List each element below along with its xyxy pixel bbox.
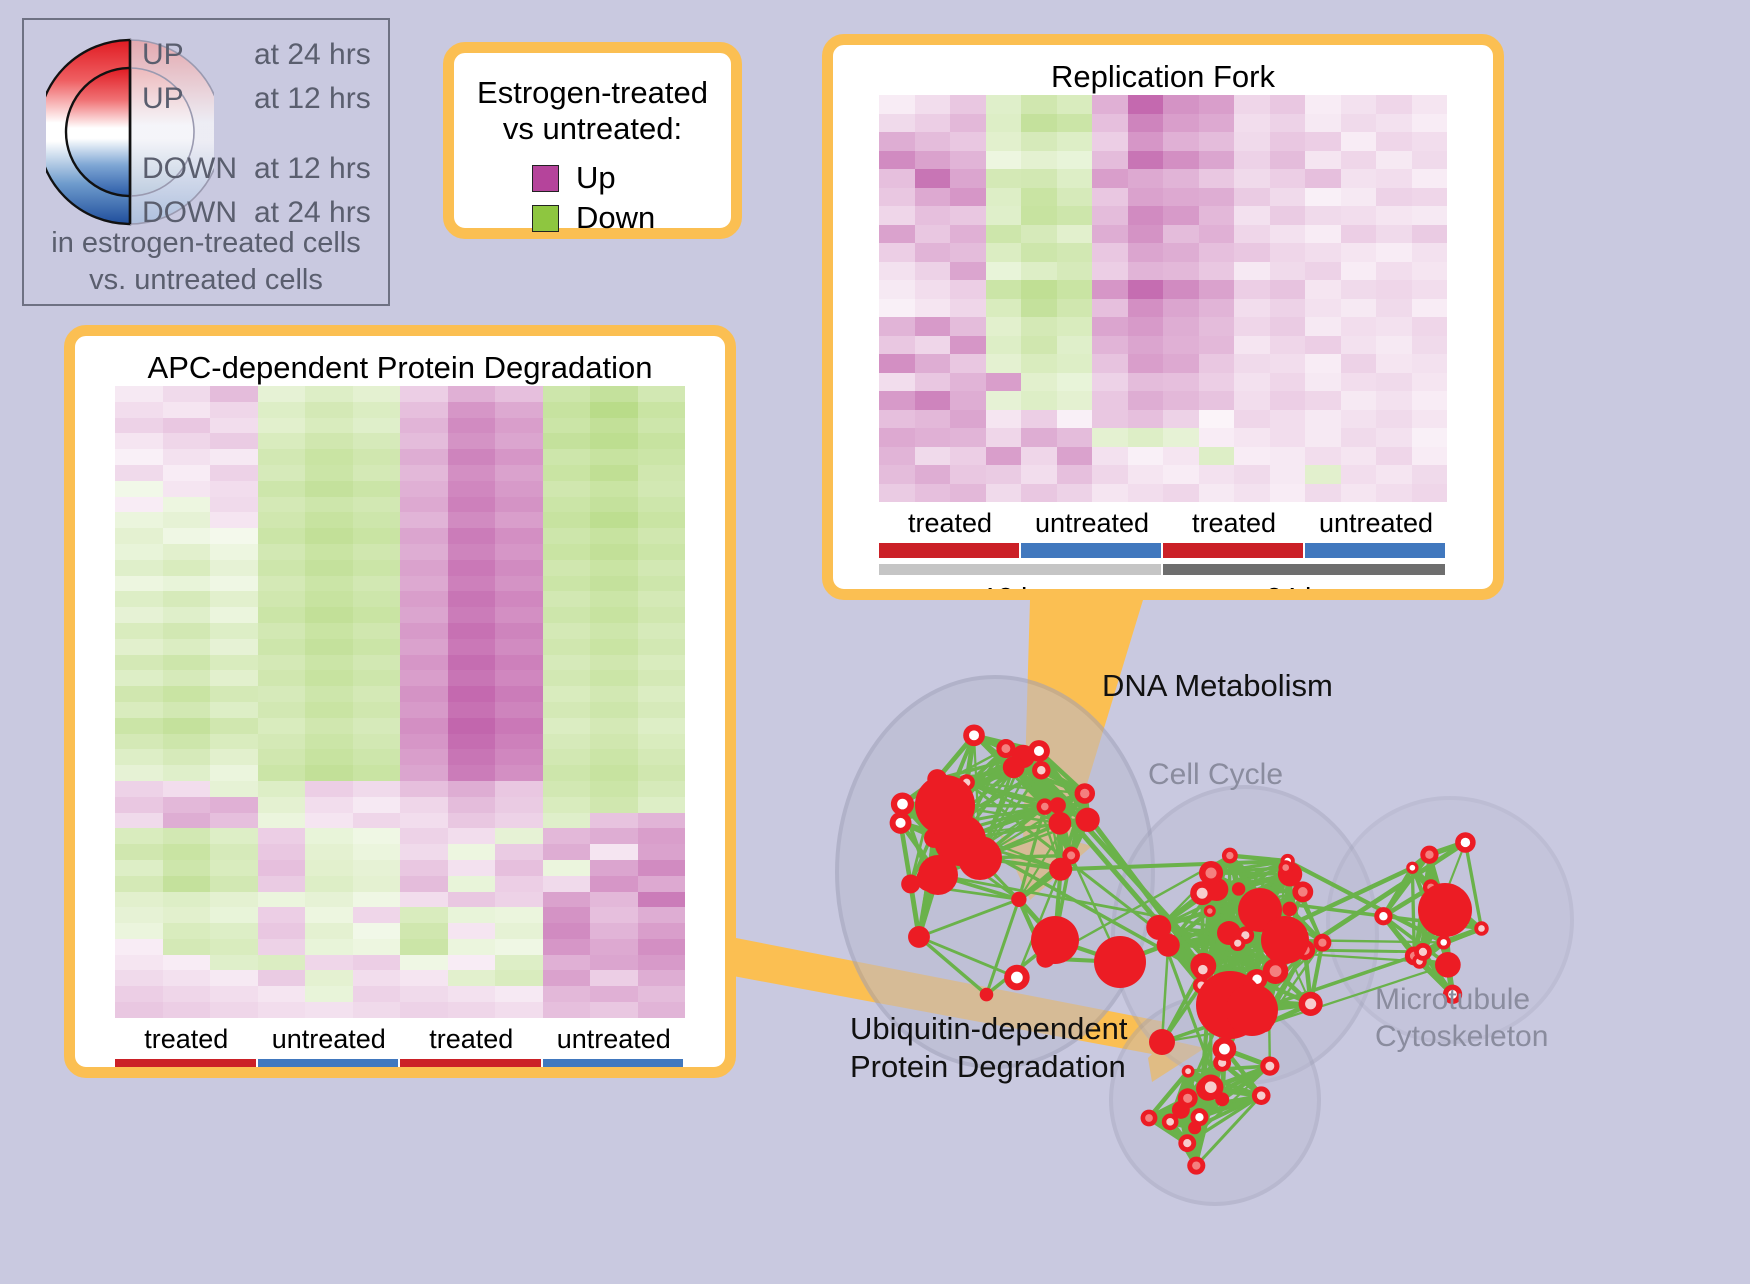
heatmap-cell bbox=[1305, 95, 1341, 114]
heatmap-cell bbox=[543, 718, 591, 734]
heatmap-cell bbox=[590, 1002, 638, 1018]
network-node[interactable] bbox=[1260, 1056, 1279, 1075]
heatmap-cell bbox=[1234, 169, 1270, 188]
heatmap-cell bbox=[163, 481, 211, 497]
heatmap-cell bbox=[448, 386, 496, 402]
network-node[interactable] bbox=[1049, 797, 1065, 813]
heatmap-cell bbox=[448, 528, 496, 544]
heatmap-cell bbox=[1128, 317, 1164, 336]
heatmap-cell bbox=[210, 418, 258, 434]
heatmap-cell bbox=[1163, 169, 1199, 188]
heatmap-cell bbox=[115, 497, 163, 513]
heatmap-cell bbox=[448, 986, 496, 1002]
heatmap-cell bbox=[1234, 447, 1270, 466]
heatmap-cell bbox=[1163, 243, 1199, 262]
heatmap-cell bbox=[115, 828, 163, 844]
heatmap-cell bbox=[1305, 151, 1341, 170]
heatmap-cell bbox=[1021, 132, 1057, 151]
heatmap-cell bbox=[400, 876, 448, 892]
heatmap-cell bbox=[210, 702, 258, 718]
network-node[interactable] bbox=[1282, 902, 1297, 917]
heatmap-cell bbox=[879, 243, 915, 262]
network-node[interactable] bbox=[1075, 783, 1096, 804]
heatmap-cell bbox=[1199, 132, 1235, 151]
network-node[interactable] bbox=[890, 812, 912, 834]
heatmap-cell bbox=[353, 892, 401, 908]
heatmap-cell bbox=[1234, 132, 1270, 151]
network-node[interactable] bbox=[1222, 848, 1238, 864]
heatmap-cell bbox=[163, 813, 211, 829]
heatmap-cell bbox=[258, 892, 306, 908]
group-color-bar bbox=[115, 1059, 685, 1074]
heatmap-cell bbox=[1057, 151, 1093, 170]
heatmap-cell bbox=[353, 497, 401, 513]
network-node[interactable] bbox=[1232, 882, 1245, 895]
heatmap-cell bbox=[1021, 114, 1057, 133]
heatmap-cell bbox=[448, 702, 496, 718]
network-node[interactable] bbox=[1172, 1101, 1190, 1119]
heatmap-cell bbox=[1128, 132, 1164, 151]
heatmap-cell bbox=[495, 749, 543, 765]
heatmap-cell bbox=[1163, 373, 1199, 392]
heatmap-cell bbox=[258, 528, 306, 544]
node-core bbox=[1197, 888, 1208, 899]
heatmap-cell bbox=[163, 670, 211, 686]
heatmap-cell bbox=[115, 765, 163, 781]
heatmap-cell bbox=[1412, 95, 1448, 114]
heatmap-cell bbox=[638, 765, 686, 781]
heatmap-cell bbox=[448, 576, 496, 592]
updown-legend-card: Estrogen-treated vs untreated: Up Down bbox=[443, 42, 742, 239]
heatmap-cell bbox=[543, 907, 591, 923]
network-node[interactable] bbox=[958, 836, 1002, 880]
heatmap-cell bbox=[638, 639, 686, 655]
heatmap-cell bbox=[210, 986, 258, 1002]
heatmap-cell bbox=[400, 560, 448, 576]
heatmap-cell bbox=[305, 655, 353, 671]
heatmap-cell bbox=[163, 907, 211, 923]
heatmap-cell bbox=[543, 465, 591, 481]
heatmap-cell bbox=[1199, 225, 1235, 244]
heatmap-cell bbox=[353, 749, 401, 765]
network-node[interactable] bbox=[963, 724, 985, 746]
network-node[interactable] bbox=[1420, 846, 1438, 864]
heatmap-cell bbox=[950, 114, 986, 133]
heatmap-cell bbox=[210, 781, 258, 797]
heatmap-cell bbox=[495, 702, 543, 718]
cluster-label-dna-metabolism: DNA Metabolism bbox=[1102, 668, 1333, 704]
heatmap-cell bbox=[590, 670, 638, 686]
heatmap-cell bbox=[1021, 95, 1057, 114]
heatmap-cell bbox=[1057, 169, 1093, 188]
heatmap-cell bbox=[1341, 151, 1377, 170]
heatmap-cell bbox=[1341, 206, 1377, 225]
node-core bbox=[1185, 1068, 1191, 1074]
network-node[interactable] bbox=[1226, 984, 1278, 1036]
heatmap-cell bbox=[210, 497, 258, 513]
heatmap-cell bbox=[448, 686, 496, 702]
heatmap-cell bbox=[986, 169, 1022, 188]
heatmap-cell bbox=[1234, 151, 1270, 170]
network-node[interactable] bbox=[1474, 921, 1488, 935]
heatmap-cell bbox=[305, 970, 353, 986]
network-node[interactable] bbox=[1049, 812, 1072, 835]
heatmap-cell bbox=[915, 262, 951, 281]
network-node[interactable] bbox=[1187, 1157, 1205, 1175]
heatmap-cell bbox=[163, 576, 211, 592]
node-core bbox=[1198, 965, 1208, 975]
heatmap-cell bbox=[1057, 354, 1093, 373]
heatmap-cell bbox=[210, 734, 258, 750]
heatmap-cell bbox=[1199, 484, 1235, 503]
heatmap-cell bbox=[305, 576, 353, 592]
heatmap-cell bbox=[495, 418, 543, 434]
heatmap-cell bbox=[353, 465, 401, 481]
heatmap-cell bbox=[1305, 262, 1341, 281]
heatmap-cell bbox=[305, 702, 353, 718]
heatmap-cell bbox=[543, 670, 591, 686]
heatmap-cell bbox=[986, 262, 1022, 281]
heatmap-cell bbox=[163, 607, 211, 623]
network-node[interactable] bbox=[1049, 858, 1072, 881]
heatmap-cell bbox=[353, 528, 401, 544]
heatmap-cell bbox=[1412, 373, 1448, 392]
heatmap-cell bbox=[353, 765, 401, 781]
heatmap-cell bbox=[163, 892, 211, 908]
group-label: treated bbox=[1163, 502, 1305, 537]
heatmap-cell bbox=[115, 734, 163, 750]
heatmap-cell bbox=[1128, 373, 1164, 392]
heatmap-cell bbox=[1199, 262, 1235, 281]
network-node[interactable] bbox=[1192, 959, 1213, 980]
network-node[interactable] bbox=[1190, 881, 1214, 905]
heatmap-cell bbox=[448, 970, 496, 986]
heatmap-cell bbox=[638, 955, 686, 971]
heatmap-cell bbox=[305, 639, 353, 655]
heatmap-cell bbox=[163, 939, 211, 955]
heatmap-cell bbox=[258, 670, 306, 686]
heatmap-cell bbox=[543, 892, 591, 908]
heatmap-cell bbox=[1021, 280, 1057, 299]
network-node[interactable] bbox=[1374, 907, 1392, 925]
heatmap-cell bbox=[986, 95, 1022, 114]
heatmap-cell bbox=[400, 765, 448, 781]
network-node[interactable] bbox=[980, 988, 994, 1002]
heatmap-cell bbox=[163, 923, 211, 939]
heatmap-cell bbox=[1376, 169, 1412, 188]
legend-key-down: Down bbox=[532, 198, 731, 238]
heatmap-cell bbox=[1412, 132, 1448, 151]
heatmap-cell bbox=[1412, 151, 1448, 170]
heatmap-cell bbox=[1128, 410, 1164, 429]
heatmap-cell bbox=[590, 418, 638, 434]
time-label: at 24 hrs bbox=[254, 38, 371, 72]
network-node[interactable] bbox=[1182, 1065, 1195, 1078]
heatmap-cell bbox=[1234, 299, 1270, 318]
heatmap-cell bbox=[1270, 225, 1306, 244]
heatmap-cell bbox=[1234, 373, 1270, 392]
network-node[interactable] bbox=[1455, 832, 1476, 853]
heatmap-cell bbox=[1412, 484, 1448, 503]
heatmap-cell bbox=[1412, 243, 1448, 262]
heatmap-cell bbox=[258, 813, 306, 829]
heatmap-cell bbox=[915, 243, 951, 262]
heatmap-cell bbox=[590, 955, 638, 971]
network-node[interactable] bbox=[1076, 808, 1100, 832]
heatmap-cell bbox=[448, 718, 496, 734]
network-node[interactable] bbox=[1003, 756, 1025, 778]
heatmap-cell bbox=[1270, 410, 1306, 429]
heatmap-cell bbox=[163, 781, 211, 797]
network-node[interactable] bbox=[1418, 883, 1472, 937]
network-node[interactable] bbox=[1230, 935, 1246, 951]
heatmap-cell bbox=[1199, 317, 1235, 336]
heatmap-cell bbox=[1376, 373, 1412, 392]
heatmap-cell bbox=[543, 623, 591, 639]
network-node[interactable] bbox=[1011, 892, 1026, 907]
network-node[interactable] bbox=[1146, 915, 1171, 940]
heatmap-cell bbox=[305, 876, 353, 892]
heatmap-cell bbox=[163, 655, 211, 671]
heatmap-cell bbox=[950, 428, 986, 447]
heatmap-cell bbox=[353, 418, 401, 434]
heatmap-cell bbox=[1057, 447, 1093, 466]
heatmap-cell bbox=[448, 623, 496, 639]
heatmap-cell bbox=[915, 169, 951, 188]
heatmap-cell bbox=[590, 560, 638, 576]
heatmap-cell bbox=[305, 402, 353, 418]
heatmap-cell bbox=[1163, 428, 1199, 447]
network-node[interactable] bbox=[1149, 1029, 1175, 1055]
heatmap-cell bbox=[590, 860, 638, 876]
heatmap-cell bbox=[258, 970, 306, 986]
heatmap-cell bbox=[1305, 206, 1341, 225]
heatmap-cell bbox=[986, 280, 1022, 299]
heatmap-cell bbox=[495, 497, 543, 513]
heatmap-cell bbox=[115, 528, 163, 544]
heatmap-cell bbox=[448, 939, 496, 955]
heatmap-cell bbox=[258, 718, 306, 734]
heatmap-cell bbox=[495, 560, 543, 576]
heatmap-cell bbox=[1341, 447, 1377, 466]
network-node[interactable] bbox=[1435, 952, 1461, 978]
network-node[interactable] bbox=[1094, 936, 1146, 988]
network-node[interactable] bbox=[1414, 943, 1432, 961]
group-bar-segment bbox=[1305, 543, 1445, 558]
network-node[interactable] bbox=[918, 855, 958, 895]
heatmap-cell bbox=[879, 225, 915, 244]
node-core bbox=[1478, 925, 1485, 932]
node-core bbox=[1226, 852, 1233, 859]
heatmap-cell bbox=[950, 317, 986, 336]
heatmap-cell bbox=[1199, 280, 1235, 299]
heatmap-cell bbox=[638, 655, 686, 671]
heatmap-cell bbox=[115, 892, 163, 908]
heatmap-cell bbox=[638, 481, 686, 497]
heatmap-cell bbox=[543, 607, 591, 623]
network-node[interactable] bbox=[1032, 761, 1050, 779]
heatmap-cell bbox=[543, 844, 591, 860]
heatmap-cell bbox=[543, 481, 591, 497]
heatmap-cell bbox=[400, 465, 448, 481]
heatmap-cell bbox=[1163, 114, 1199, 133]
network-node[interactable] bbox=[1190, 1108, 1208, 1126]
heatmap-cell bbox=[638, 702, 686, 718]
heatmap-cell bbox=[1163, 225, 1199, 244]
heatmap-cell bbox=[258, 1002, 306, 1018]
heatmap-cell bbox=[638, 497, 686, 513]
heatmap-cell bbox=[495, 433, 543, 449]
heatmap-cell bbox=[543, 433, 591, 449]
network-node[interactable] bbox=[1292, 881, 1313, 902]
node-core bbox=[1067, 851, 1075, 859]
heatmap-cell bbox=[400, 718, 448, 734]
heatmap-cell bbox=[1021, 225, 1057, 244]
heatmap-cell bbox=[638, 528, 686, 544]
heatmap-cell bbox=[115, 591, 163, 607]
heatmap-cell bbox=[1341, 299, 1377, 318]
heatmap-cell bbox=[1163, 299, 1199, 318]
heatmap-cell bbox=[495, 986, 543, 1002]
heatmap-cell bbox=[879, 447, 915, 466]
heatmap-cell bbox=[543, 986, 591, 1002]
heatmap-cell bbox=[590, 797, 638, 813]
heatmap-cell bbox=[305, 955, 353, 971]
heatmap-cell bbox=[638, 433, 686, 449]
heatmap-cell bbox=[1412, 114, 1448, 133]
heatmap-cell bbox=[1305, 132, 1341, 151]
heatmap-cell bbox=[448, 670, 496, 686]
heatmap-cell bbox=[495, 876, 543, 892]
network-node[interactable] bbox=[1406, 862, 1418, 874]
heatmap-cell bbox=[1128, 280, 1164, 299]
heatmap-cell bbox=[1412, 299, 1448, 318]
heatmap-cell bbox=[353, 655, 401, 671]
heatmap-cell bbox=[495, 939, 543, 955]
heatmap-cell bbox=[210, 813, 258, 829]
cluster-label-ubiquitin: Ubiquitin-dependent Protein Degradation bbox=[850, 1010, 1128, 1086]
node-core bbox=[969, 730, 979, 740]
heatmap-cell bbox=[1057, 465, 1093, 484]
heatmap-cell bbox=[1270, 465, 1306, 484]
heatmap-cell bbox=[1305, 114, 1341, 133]
heatmap-cell bbox=[495, 844, 543, 860]
heatmap-cell bbox=[543, 876, 591, 892]
network-node[interactable] bbox=[1437, 935, 1451, 949]
heatmap-cell bbox=[163, 860, 211, 876]
heatmap-cell bbox=[305, 512, 353, 528]
heatmap-cell bbox=[986, 484, 1022, 503]
node-core bbox=[1205, 1081, 1217, 1093]
network-node[interactable] bbox=[1252, 1086, 1271, 1105]
network-node[interactable] bbox=[1031, 916, 1079, 964]
heatmap-cell bbox=[400, 607, 448, 623]
heatmap-cell bbox=[305, 797, 353, 813]
heatmap-cell bbox=[638, 418, 686, 434]
heatmap-cell bbox=[590, 892, 638, 908]
network-node[interactable] bbox=[1313, 934, 1331, 952]
heatmap-cell bbox=[1021, 484, 1057, 503]
heatmap-cell bbox=[638, 907, 686, 923]
heatmap-cell bbox=[543, 749, 591, 765]
heatmap-cell bbox=[163, 702, 211, 718]
heatmap-cell bbox=[1412, 169, 1448, 188]
heatmap-cell bbox=[305, 386, 353, 402]
heatmap-cell bbox=[495, 528, 543, 544]
heatmap-cell bbox=[1234, 465, 1270, 484]
heatmap-cell bbox=[950, 484, 986, 503]
heatmap-cell bbox=[1092, 465, 1128, 484]
heatmap-cell bbox=[986, 151, 1022, 170]
heatmap-cell bbox=[495, 813, 543, 829]
network-node[interactable] bbox=[1299, 992, 1323, 1016]
heatmap-cell bbox=[258, 449, 306, 465]
heatmap-cell bbox=[163, 749, 211, 765]
heatmap-cell bbox=[495, 623, 543, 639]
heatmap-cell bbox=[1341, 484, 1377, 503]
heatmap-cell bbox=[1234, 428, 1270, 447]
heatmap-cell bbox=[1376, 336, 1412, 355]
network-node[interactable] bbox=[1261, 916, 1309, 964]
heatmap-cell bbox=[590, 433, 638, 449]
heatmap-cell bbox=[1128, 428, 1164, 447]
heatmap-cell bbox=[210, 797, 258, 813]
network-node[interactable] bbox=[1178, 1134, 1196, 1152]
heatmap-cell bbox=[353, 797, 401, 813]
heatmap-cell bbox=[1270, 299, 1306, 318]
heatmap-cell bbox=[115, 433, 163, 449]
heatmap-cell bbox=[400, 955, 448, 971]
heatmap-cell bbox=[163, 970, 211, 986]
heatmap-cell bbox=[115, 923, 163, 939]
network-node[interactable] bbox=[1215, 1092, 1229, 1106]
heatmap-cell bbox=[210, 892, 258, 908]
heatmap-cell bbox=[1412, 391, 1448, 410]
heatmap-cell bbox=[638, 560, 686, 576]
heatmap-cell bbox=[1128, 447, 1164, 466]
heatmap-cell bbox=[448, 876, 496, 892]
heatmap-cell bbox=[915, 225, 951, 244]
heatmap-cell bbox=[305, 813, 353, 829]
network-node[interactable] bbox=[1141, 1110, 1158, 1127]
network-node[interactable] bbox=[1204, 905, 1216, 917]
heatmap-cell bbox=[210, 639, 258, 655]
heatmap-cell bbox=[543, 386, 591, 402]
heatmap-cell bbox=[163, 639, 211, 655]
network-node[interactable] bbox=[1004, 965, 1030, 991]
heatmap-cell bbox=[210, 718, 258, 734]
heatmap-cell bbox=[448, 639, 496, 655]
heatmap-cell bbox=[1412, 280, 1448, 299]
heatmap-cell bbox=[495, 860, 543, 876]
heatmap-cell bbox=[950, 373, 986, 392]
heatmap-cell bbox=[353, 591, 401, 607]
heatmap-cell bbox=[1021, 465, 1057, 484]
heatmap-cell bbox=[1163, 132, 1199, 151]
heatmap-cell bbox=[1341, 132, 1377, 151]
heatmap-cell bbox=[115, 670, 163, 686]
network-node[interactable] bbox=[1278, 860, 1293, 875]
heatmap-cell bbox=[915, 354, 951, 373]
panel-title: APC-dependent Protein Degradation bbox=[75, 350, 725, 386]
heatmap-cell bbox=[543, 402, 591, 418]
title-line-1: Estrogen-treated bbox=[454, 75, 731, 111]
heatmap-cell bbox=[986, 354, 1022, 373]
network-node[interactable] bbox=[1213, 1037, 1237, 1061]
heatmap-cell bbox=[1199, 114, 1235, 133]
network-node[interactable] bbox=[908, 926, 930, 948]
heatmap-cell bbox=[590, 702, 638, 718]
